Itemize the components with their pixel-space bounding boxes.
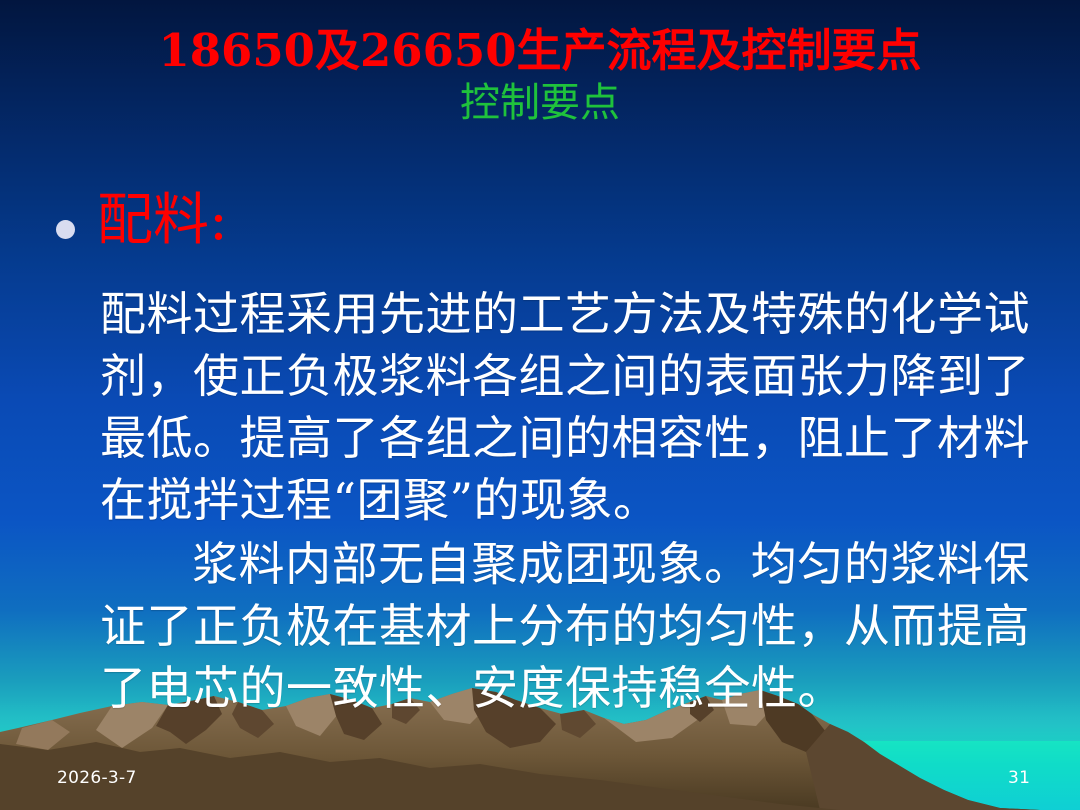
slide-subtitle: 控制要点 — [0, 83, 1080, 123]
footer-page-number: 31 — [1008, 768, 1030, 788]
bullet-dot-icon — [56, 220, 75, 239]
bullet-heading-label: 配料: — [97, 192, 228, 251]
body-paragraph-1: 配料过程采用先进的工艺方法及特殊的化学试剂，使正负极浆料各组之间的表面张力降到了… — [100, 283, 1030, 531]
slide-canvas: 18650及26650生产流程及控制要点 控制要点 配料: 配料过程采用先进的工… — [0, 0, 1080, 810]
body-text-block: 配料过程采用先进的工艺方法及特殊的化学试剂，使正负极浆料各组之间的表面张力降到了… — [100, 283, 1030, 719]
footer-date: 2026-3-7 — [57, 768, 137, 788]
slide-title: 18650及26650生产流程及控制要点 — [0, 28, 1080, 73]
bullet-heading-row: 配料: — [56, 192, 228, 251]
slide-title-block: 18650及26650生产流程及控制要点 控制要点 — [0, 28, 1080, 123]
body-paragraph-2: 浆料内部无自聚成团现象。均匀的浆料保证了正负极在基材上分布的均匀性，从而提高了电… — [100, 533, 1030, 719]
mountain-shadow-right-slope — [806, 724, 1040, 810]
